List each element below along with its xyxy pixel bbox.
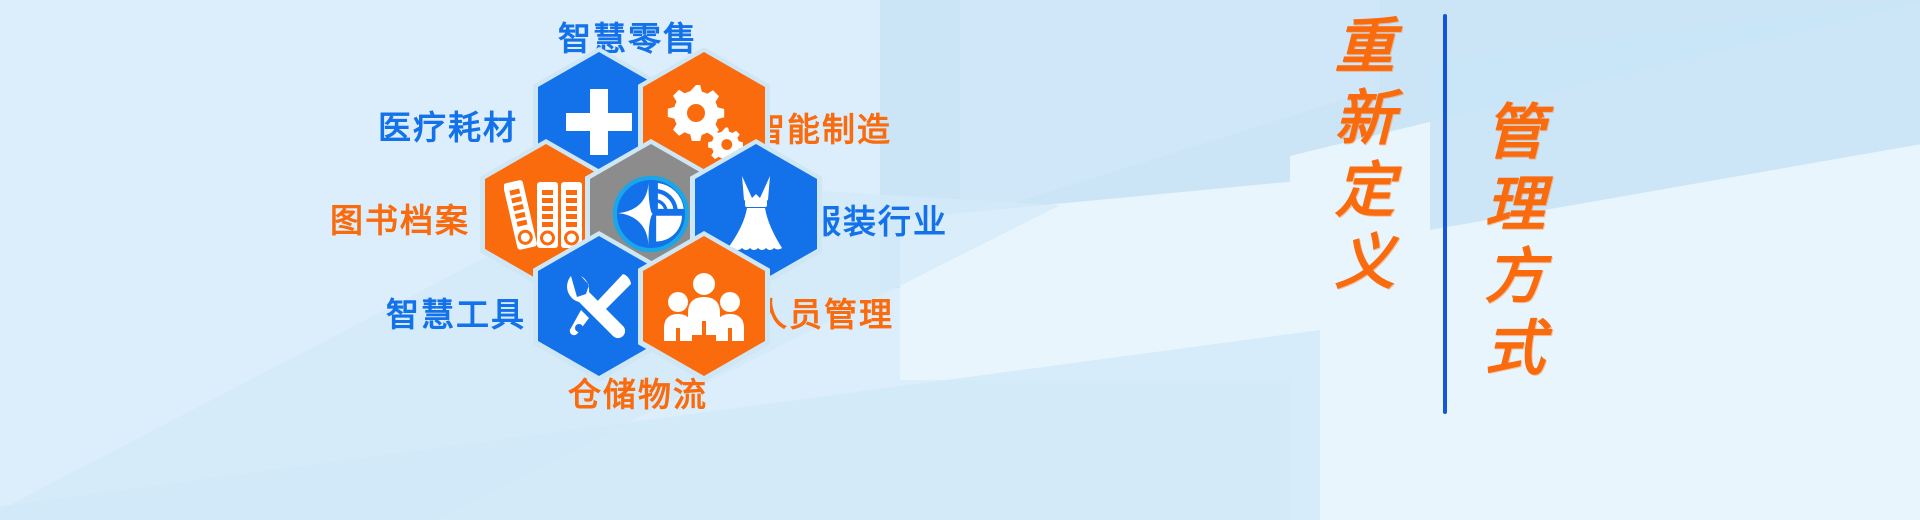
slogan-right-column: 管理方式 [1472, 100, 1545, 388]
gears-icon [663, 83, 745, 161]
dress-icon [718, 172, 794, 256]
slogan-divider [1443, 14, 1447, 414]
slogan-left-column: 重新定义 [1322, 14, 1395, 302]
binders-archive-icon [504, 174, 588, 254]
hexagon-cluster [455, 52, 825, 452]
medical-cross-icon [562, 85, 636, 159]
banner-canvas: 智慧零售 医疗耗材 智能制造 图书档案 服装行业 智慧工具 人员管理 仓储物流 [0, 0, 1920, 520]
label-books: 图书档案 [330, 194, 470, 242]
people-group-icon [662, 271, 746, 341]
wrench-screwdriver-icon [559, 266, 639, 346]
label-apparel: 服装行业 [808, 195, 948, 243]
